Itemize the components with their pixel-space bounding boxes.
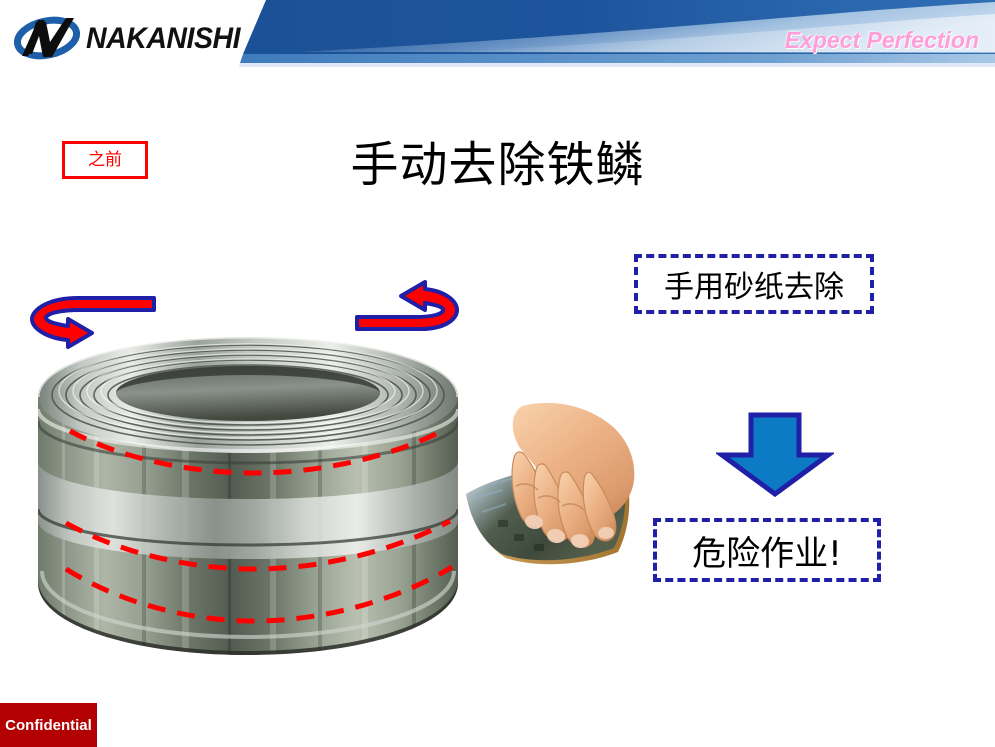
- confidential-label: Confidential: [5, 717, 92, 734]
- brand-logo: NAKANISHI: [14, 16, 244, 60]
- callout-danger-label: 危险作业!: [692, 526, 842, 575]
- page-title: 手动去除铁鳞: [0, 125, 995, 195]
- brand-name: NAKANISHI: [86, 22, 240, 56]
- tagline: Expect Perfection: [785, 27, 979, 54]
- rotation-arrow-counterclockwise-icon: [345, 277, 465, 339]
- slide-canvas: NAKANISHI Expect Perfection 之前 手动去除铁鳞: [0, 0, 995, 747]
- callout-danger: 危险作业!: [653, 518, 881, 582]
- nakanishi-swoosh-n-logo-icon: [14, 16, 86, 60]
- machined-steel-ring-photo: [32, 333, 464, 663]
- callout-method-label: 手用砂纸去除: [664, 262, 844, 306]
- callout-method: 手用砂纸去除: [634, 254, 874, 314]
- down-arrow-icon: [716, 411, 834, 498]
- confidential-badge: Confidential: [0, 703, 97, 747]
- hand-with-sandpaper-photo: [462, 402, 642, 592]
- slide-header: NAKANISHI Expect Perfection: [0, 0, 995, 70]
